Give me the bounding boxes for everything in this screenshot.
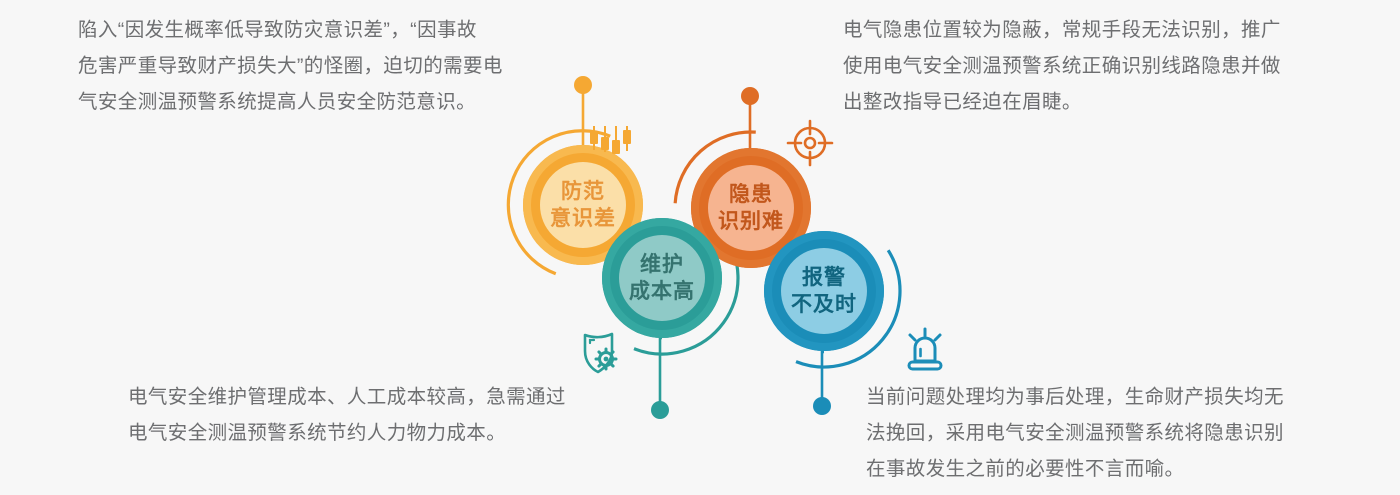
node-circle-alarm-timeliness[interactable] — [764, 231, 884, 351]
connector-dot-alarm-timeliness — [813, 397, 831, 415]
infographic-canvas: 陷入“因发生概率低导致防灾意识差”，“因事故 危害严重导致财产损失大”的怪圈，迫… — [0, 0, 1400, 495]
node-circle-maintenance-cost[interactable] — [602, 218, 722, 338]
connector-dot-maintenance-cost — [651, 401, 669, 419]
node-cluster-graphic — [0, 0, 1400, 495]
alarm-siren-icon — [909, 329, 941, 369]
connector-dot-prevention-awareness — [574, 76, 592, 94]
connector-line-maintenance-cost — [660, 338, 662, 410]
shield-gear-icon — [585, 334, 616, 372]
crosshair-target-icon — [788, 121, 832, 165]
node-circles-layer — [523, 145, 884, 351]
connector-dot-hazard-identification — [741, 87, 759, 105]
